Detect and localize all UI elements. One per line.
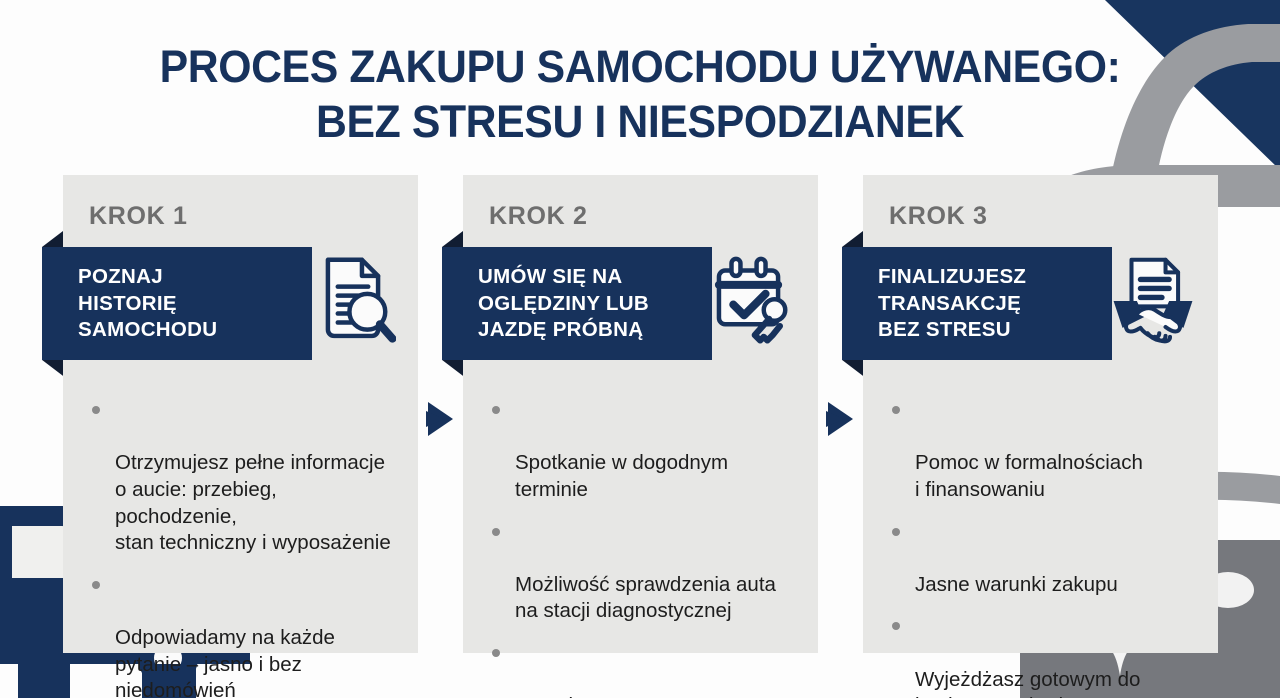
banner-fold-top (42, 231, 63, 247)
banner-fold-top (842, 231, 863, 247)
bullet-text: Wyjeżdżasz gotowym do jazdy samochodem (915, 668, 1140, 698)
bullet-list-2: Spotkanie w dogodnym terminie Możliwość … (489, 397, 802, 698)
list-item: Wyjeżdżasz gotowym do jazdy samochodem (889, 613, 1202, 698)
calendar-check-key-icon (710, 253, 796, 349)
bullet-dot-icon (492, 649, 500, 657)
bullet-dot-icon (92, 581, 100, 589)
banner-fold-top (442, 231, 463, 247)
bullet-dot-icon (492, 406, 500, 414)
bullet-dot-icon (492, 528, 500, 536)
step-banner-1: POZNAJ HISTORIĘ SAMOCHODU (42, 247, 312, 360)
step-label-3: KROK 3 (889, 202, 988, 231)
step-card-3[interactable]: KROK 3 FINALIZUJESZ TRANSAKCJĘ BEZ STRES… (863, 175, 1218, 653)
document-search-icon (310, 253, 396, 349)
list-item: Rzetelna rozmowa w przyjaznej atmosferze (489, 640, 802, 698)
step-title-3: FINALIZUJESZ TRANSAKCJĘ BEZ STRESU (878, 264, 1096, 344)
banner-fold-bottom (442, 360, 463, 376)
step-banner-2: UMÓW SIĘ NA OGLĘDZINY LUB JAZDĘ PRÓBNĄ (442, 247, 712, 360)
page-title: PROCES ZAKUPU SAMOCHODU UŻYWANEGO: BEZ S… (0, 40, 1280, 150)
bullet-text: Spotkanie w dogodnym terminie (515, 451, 728, 501)
list-item: Pomoc w formalnościach i finansowaniu (889, 397, 1202, 504)
list-item: Spotkanie w dogodnym terminie (489, 397, 802, 504)
bullet-dot-icon (892, 622, 900, 630)
bullet-text: Odpowiadamy na każde pytanie – jasno i b… (115, 626, 335, 698)
title-line-1: PROCES ZAKUPU SAMOCHODU UŻYWANEGO: (32, 40, 1248, 95)
arrow-right-icon-2 (818, 396, 863, 442)
step-card-2[interactable]: KROK 2 UMÓW SIĘ NA OGLĘDZINY LUB JAZDĘ P… (463, 175, 818, 653)
steps-row: KROK 1 POZNAJ HISTORIĘ SAMOCHODU (63, 175, 1223, 653)
step-banner-3: FINALIZUJESZ TRANSAKCJĘ BEZ STRESU (842, 247, 1112, 360)
bullet-text: Otrzymujesz pełne informacje o aucie: pr… (115, 451, 391, 554)
step-label-2: KROK 2 (489, 202, 588, 231)
step-title-2: UMÓW SIĘ NA OGLĘDZINY LUB JAZDĘ PRÓBNĄ (478, 264, 696, 344)
step-card-1[interactable]: KROK 1 POZNAJ HISTORIĘ SAMOCHODU (63, 175, 418, 653)
bullet-list-1: Otrzymujesz pełne informacje o aucie: pr… (89, 397, 402, 698)
bullet-text: Możliwość sprawdzenia auta na stacji dia… (515, 573, 776, 623)
list-item: Jasne warunki zakupu (889, 519, 1202, 599)
bullet-text: Jasne warunki zakupu (915, 573, 1118, 596)
bullet-dot-icon (892, 406, 900, 414)
arrow-right-icon-1 (418, 396, 463, 442)
bullet-dot-icon (92, 406, 100, 414)
bullet-dot-icon (892, 528, 900, 536)
banner-fold-bottom (42, 360, 63, 376)
list-item: Odpowiadamy na każde pytanie – jasno i b… (89, 572, 402, 698)
banner-fold-bottom (842, 360, 863, 376)
bullet-text: Pomoc w formalnościach i finansowaniu (915, 451, 1143, 501)
infographic-canvas: PROCES ZAKUPU SAMOCHODU UŻYWANEGO: BEZ S… (0, 0, 1280, 698)
bullet-list-3: Pomoc w formalnościach i finansowaniu Ja… (889, 397, 1202, 698)
step-label-1: KROK 1 (89, 202, 188, 231)
title-line-2: BEZ STRESU I NIESPODZIANEK (32, 95, 1248, 150)
handshake-document-icon (1110, 253, 1196, 349)
list-item: Możliwość sprawdzenia auta na stacji dia… (489, 519, 802, 626)
bullet-text: Rzetelna rozmowa w przyjaznej atmosferze (515, 694, 735, 698)
list-item: Otrzymujesz pełne informacje o aucie: pr… (89, 397, 402, 557)
step-title-1: POZNAJ HISTORIĘ SAMOCHODU (78, 264, 296, 344)
